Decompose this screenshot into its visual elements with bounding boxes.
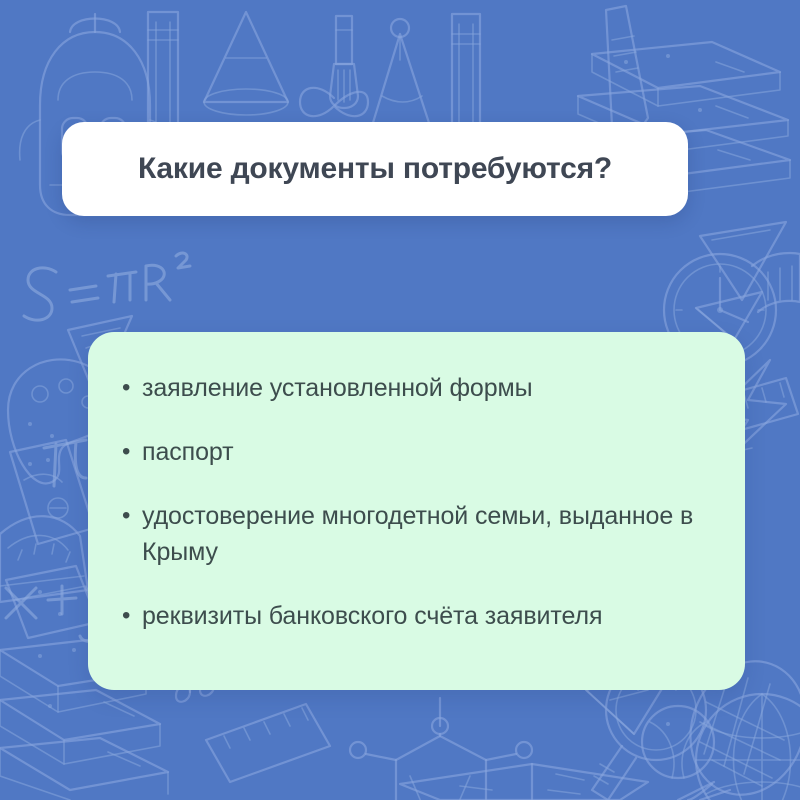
formula-s-pi-r-squared-doodle	[24, 253, 190, 320]
bullet-icon: •	[122, 598, 142, 634]
bullet-icon: •	[122, 498, 142, 534]
bullet-icon: •	[122, 434, 142, 470]
poster-canvas: Какие документы потребуются? • заявление…	[0, 0, 800, 800]
pi-symbol-doodle	[44, 440, 86, 486]
page-title: Какие документы потребуются?	[138, 152, 612, 186]
ruler-doodle	[206, 704, 330, 782]
cone-doodle	[204, 12, 288, 115]
paintbrush-doodle	[330, 16, 358, 108]
infinity-doodle	[300, 88, 368, 116]
globe-doodle	[696, 694, 800, 800]
title-card: Какие документы потребуются?	[62, 122, 688, 216]
list-item: • заявление установленной формы	[122, 370, 711, 406]
documents-list: • заявление установленной формы • паспор…	[122, 370, 711, 634]
sharpener-doodle	[752, 253, 800, 312]
bullet-icon: •	[122, 370, 142, 406]
documents-card: • заявление установленной формы • паспор…	[88, 332, 745, 690]
list-item-label: заявление установленной формы	[142, 370, 711, 406]
list-item-label: паспорт	[142, 434, 711, 470]
molecule-doodle	[350, 698, 532, 800]
sharpener-doodle	[6, 566, 98, 638]
paper-boat-doodle	[400, 764, 648, 800]
list-item-label: реквизиты банковского счёта заявителя	[142, 598, 711, 634]
tennis-ball-doodle	[642, 706, 714, 778]
list-item: • паспорт	[122, 434, 711, 470]
triangle-ruler-doodle	[700, 222, 786, 300]
list-item: • реквизиты банковского счёта заявителя	[122, 598, 711, 634]
list-item: • удостоверение многодетной семьи, выдан…	[122, 498, 711, 570]
sharpener-doodle	[10, 440, 94, 544]
protractor-doodle	[0, 516, 88, 602]
list-item-label: удостоверение многодетной семьи, выданно…	[142, 498, 711, 570]
